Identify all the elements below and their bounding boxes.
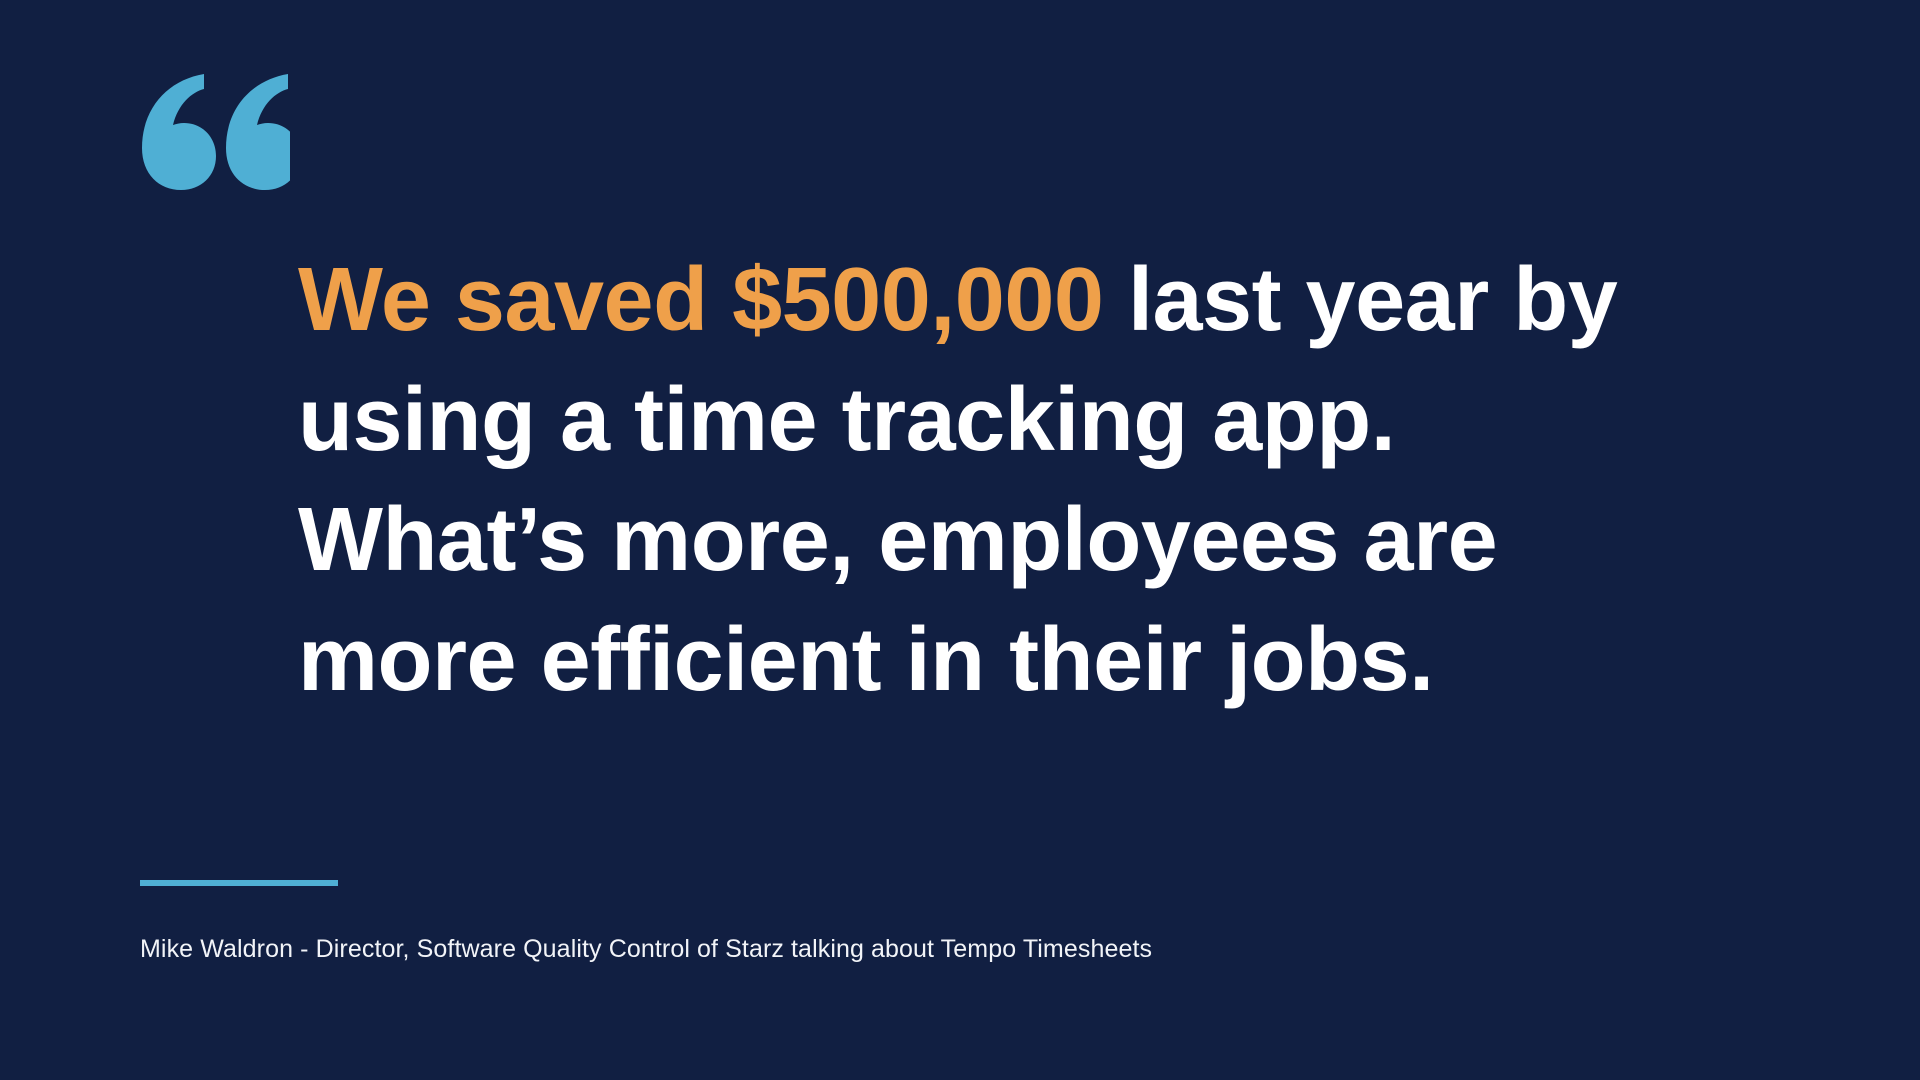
quote-highlight: We saved $500,000 (298, 250, 1103, 350)
attribution-text: Mike Waldron - Director, Software Qualit… (140, 932, 1152, 966)
quote-line-1-rest: last year by (1103, 250, 1617, 350)
quote-text: We saved $500,000 last year by using a t… (298, 240, 1758, 720)
accent-divider (140, 880, 338, 886)
quote-line-4: more efficient in their jobs. (298, 600, 1758, 720)
quote-line-2: using a time tracking app. (298, 360, 1758, 480)
quote-line-1: We saved $500,000 last year by (298, 240, 1758, 360)
quote-line-3-rest: What’s more, employees are (298, 490, 1497, 590)
quote-line-3: What’s more, employees are (298, 480, 1758, 600)
double-quote-open-icon (140, 68, 290, 193)
quote-line-4-rest: more efficient in their jobs. (298, 610, 1434, 710)
testimonial-slide: We saved $500,000 last year by using a t… (0, 0, 1920, 1080)
quote-line-2-rest: using a time tracking app. (298, 370, 1395, 470)
